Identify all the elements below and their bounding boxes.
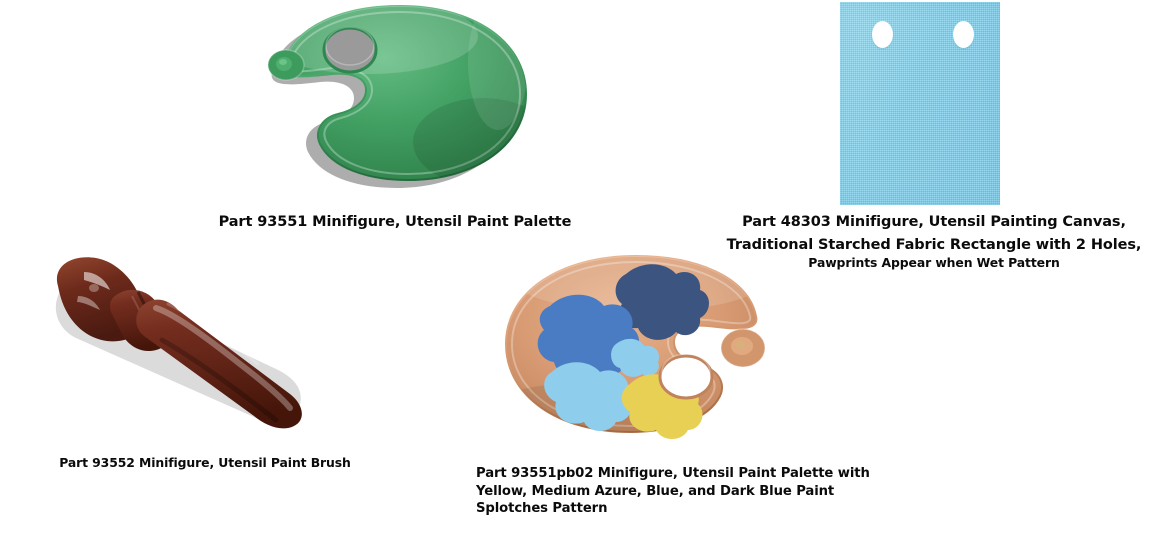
caption-paint-palette: Part 93551 Minifigure, Utensil Paint Pal…: [160, 213, 630, 232]
caption-paint-palette-printed: Part 93551pb02 Minifigure, Utensil Paint…: [476, 465, 876, 518]
caption-palette-print-line-1: Part 93551pb02 Minifigure, Utensil Paint…: [476, 465, 876, 483]
paint-palette-printed-graphic: [490, 250, 790, 450]
palette-green-thumb-hole: [324, 27, 376, 72]
image-canvas: Part 93551 Minifigure, Utensil Paint Pal…: [0, 0, 1168, 533]
canvas-hole-right-icon: [953, 21, 974, 48]
paint-palette-green-image: [248, 2, 538, 207]
canvas-hole-left-icon: [872, 21, 893, 48]
painting-canvas-image: [840, 2, 1000, 205]
caption-palette-print-line-2: Yellow, Medium Azure, Blue, and Dark Blu…: [476, 483, 876, 501]
palette-green-stud: [268, 50, 304, 80]
caption-canvas-line-1: Part 48303 Minifigure, Utensil Painting …: [700, 213, 1168, 232]
palette-green-body: [258, 2, 538, 186]
paint-palette-green-graphic: [248, 2, 538, 207]
caption-paint-brush: Part 93552 Minifigure, Utensil Paint Bru…: [10, 455, 400, 471]
paint-brush-image: [44, 252, 344, 432]
canvas-fabric-sheet: [840, 2, 1000, 205]
palette-print-thumb-hole: [660, 354, 712, 398]
paint-palette-printed-image: [490, 250, 790, 450]
paint-brush-graphic: [44, 252, 344, 432]
caption-palette-print-line-3: Splotches Pattern: [476, 500, 876, 518]
palette-print-stud: [721, 329, 765, 367]
